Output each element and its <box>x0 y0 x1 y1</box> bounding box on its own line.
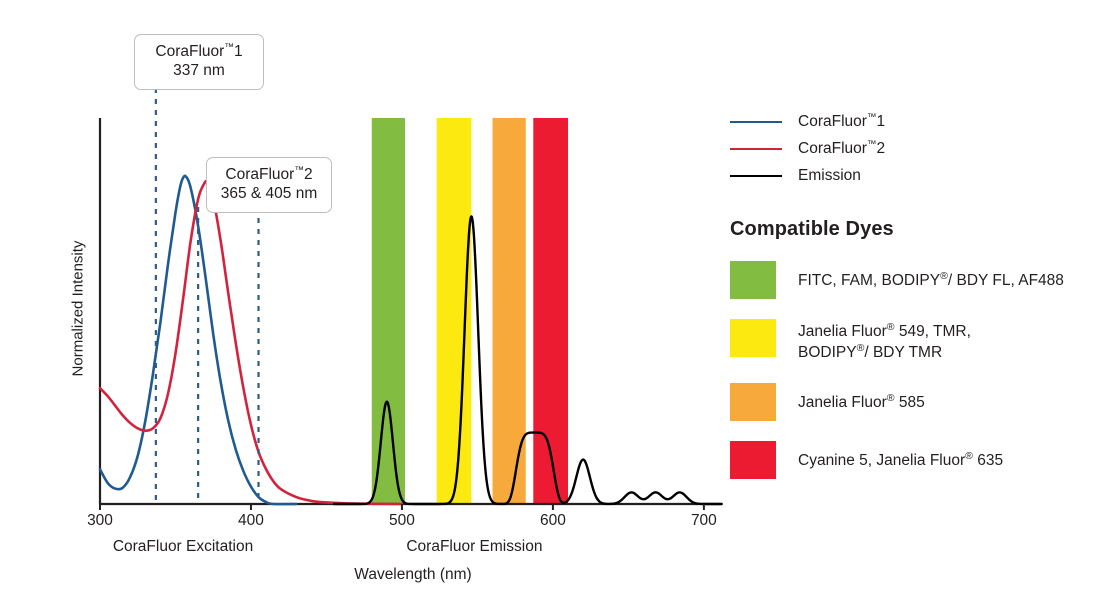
trademark-symbol: ™ <box>294 165 304 176</box>
x-tick-label-500: 500 <box>372 512 432 530</box>
dye-label-line2-1: BODIPY®/ BDY TMR <box>798 342 971 363</box>
dye-color-swatch-0 <box>730 261 776 299</box>
trademark-symbol: ™ <box>224 42 234 53</box>
callout-corafluor-2: CoraFluor™2 365 & 405 nm <box>206 157 332 213</box>
legend-line-swatch-corafluor-1 <box>730 121 782 123</box>
compatible-dyes-heading: Compatible Dyes <box>730 218 1090 241</box>
callout-1-value: 337 nm <box>147 62 251 81</box>
callout-2-title: CoraFluor™2 <box>219 165 319 185</box>
legend-line-swatch-corafluor-2 <box>730 148 782 150</box>
dye-row-0[interactable]: FITC, FAM, BODIPY®/ BDY FL, AF488 <box>730 261 1090 299</box>
dye-color-swatch-1 <box>730 319 776 357</box>
callout-2-value: 365 & 405 nm <box>219 185 319 204</box>
callout-1-title: CoraFluor™1 <box>147 42 251 62</box>
excitation-region-label: CoraFluor Excitation <box>83 538 283 556</box>
x-tick-label-300: 300 <box>70 512 130 530</box>
legend-label-emission: Emission <box>798 167 861 185</box>
y-axis-title: Normalized Intensity <box>70 219 87 399</box>
registered-symbol: ® <box>887 392 895 404</box>
legend-label-corafluor-1: CoraFluor™1 <box>798 112 885 131</box>
legend-line-swatch-emission <box>730 175 782 177</box>
dye-label-line1-1: Janelia Fluor® 549, TMR, <box>798 321 971 342</box>
x-tick-label-700: 700 <box>674 512 734 530</box>
legend-item-emission[interactable]: Emission <box>730 162 1090 189</box>
dye-row-3[interactable]: Cyanine 5, Janelia Fluor® 635 <box>730 441 1090 479</box>
filter-band-red-band <box>533 118 568 504</box>
legend-label-corafluor-2: CoraFluor™2 <box>798 139 885 158</box>
legend-item-corafluor-1[interactable]: CoraFluor™1 <box>730 108 1090 135</box>
dye-label-line1-2: Janelia Fluor® 585 <box>798 392 925 413</box>
curve-corafluor-2 <box>100 181 402 504</box>
compatible-dyes-list: FITC, FAM, BODIPY®/ BDY FL, AF488Janelia… <box>730 261 1090 479</box>
spectra-figure: CoraFluor™1 337 nm CoraFluor™2 365 & 405… <box>0 0 1110 612</box>
dye-color-swatch-3 <box>730 441 776 479</box>
legend-panel: CoraFluor™1 CoraFluor™2 Emission Compati… <box>730 108 1090 479</box>
dye-label-1: Janelia Fluor® 549, TMR,BODIPY®/ BDY TMR <box>798 319 971 363</box>
dye-color-swatch-2 <box>730 383 776 421</box>
registered-symbol: ® <box>857 342 865 354</box>
dye-label-line1-0: FITC, FAM, BODIPY®/ BDY FL, AF488 <box>798 270 1064 291</box>
series-legend: CoraFluor™1 CoraFluor™2 Emission <box>730 108 1090 189</box>
callout-corafluor-1: CoraFluor™1 337 nm <box>134 34 264 90</box>
filter-band-green-band <box>372 118 405 504</box>
registered-symbol: ® <box>940 270 948 282</box>
dye-label-3: Cyanine 5, Janelia Fluor® 635 <box>798 441 1003 471</box>
dye-row-1[interactable]: Janelia Fluor® 549, TMR,BODIPY®/ BDY TMR <box>730 319 1090 363</box>
dye-label-line1-3: Cyanine 5, Janelia Fluor® 635 <box>798 450 1003 471</box>
dye-label-0: FITC, FAM, BODIPY®/ BDY FL, AF488 <box>798 261 1064 291</box>
x-axis-title: Wavelength (nm) <box>0 566 826 584</box>
emission-region-label: CoraFluor Emission <box>374 538 574 556</box>
dye-row-2[interactable]: Janelia Fluor® 585 <box>730 383 1090 421</box>
registered-symbol: ® <box>887 321 895 333</box>
x-tick-label-400: 400 <box>221 512 281 530</box>
legend-item-corafluor-2[interactable]: CoraFluor™2 <box>730 135 1090 162</box>
x-tick-label-600: 600 <box>523 512 583 530</box>
dye-label-2: Janelia Fluor® 585 <box>798 383 925 413</box>
registered-symbol: ® <box>965 450 973 462</box>
